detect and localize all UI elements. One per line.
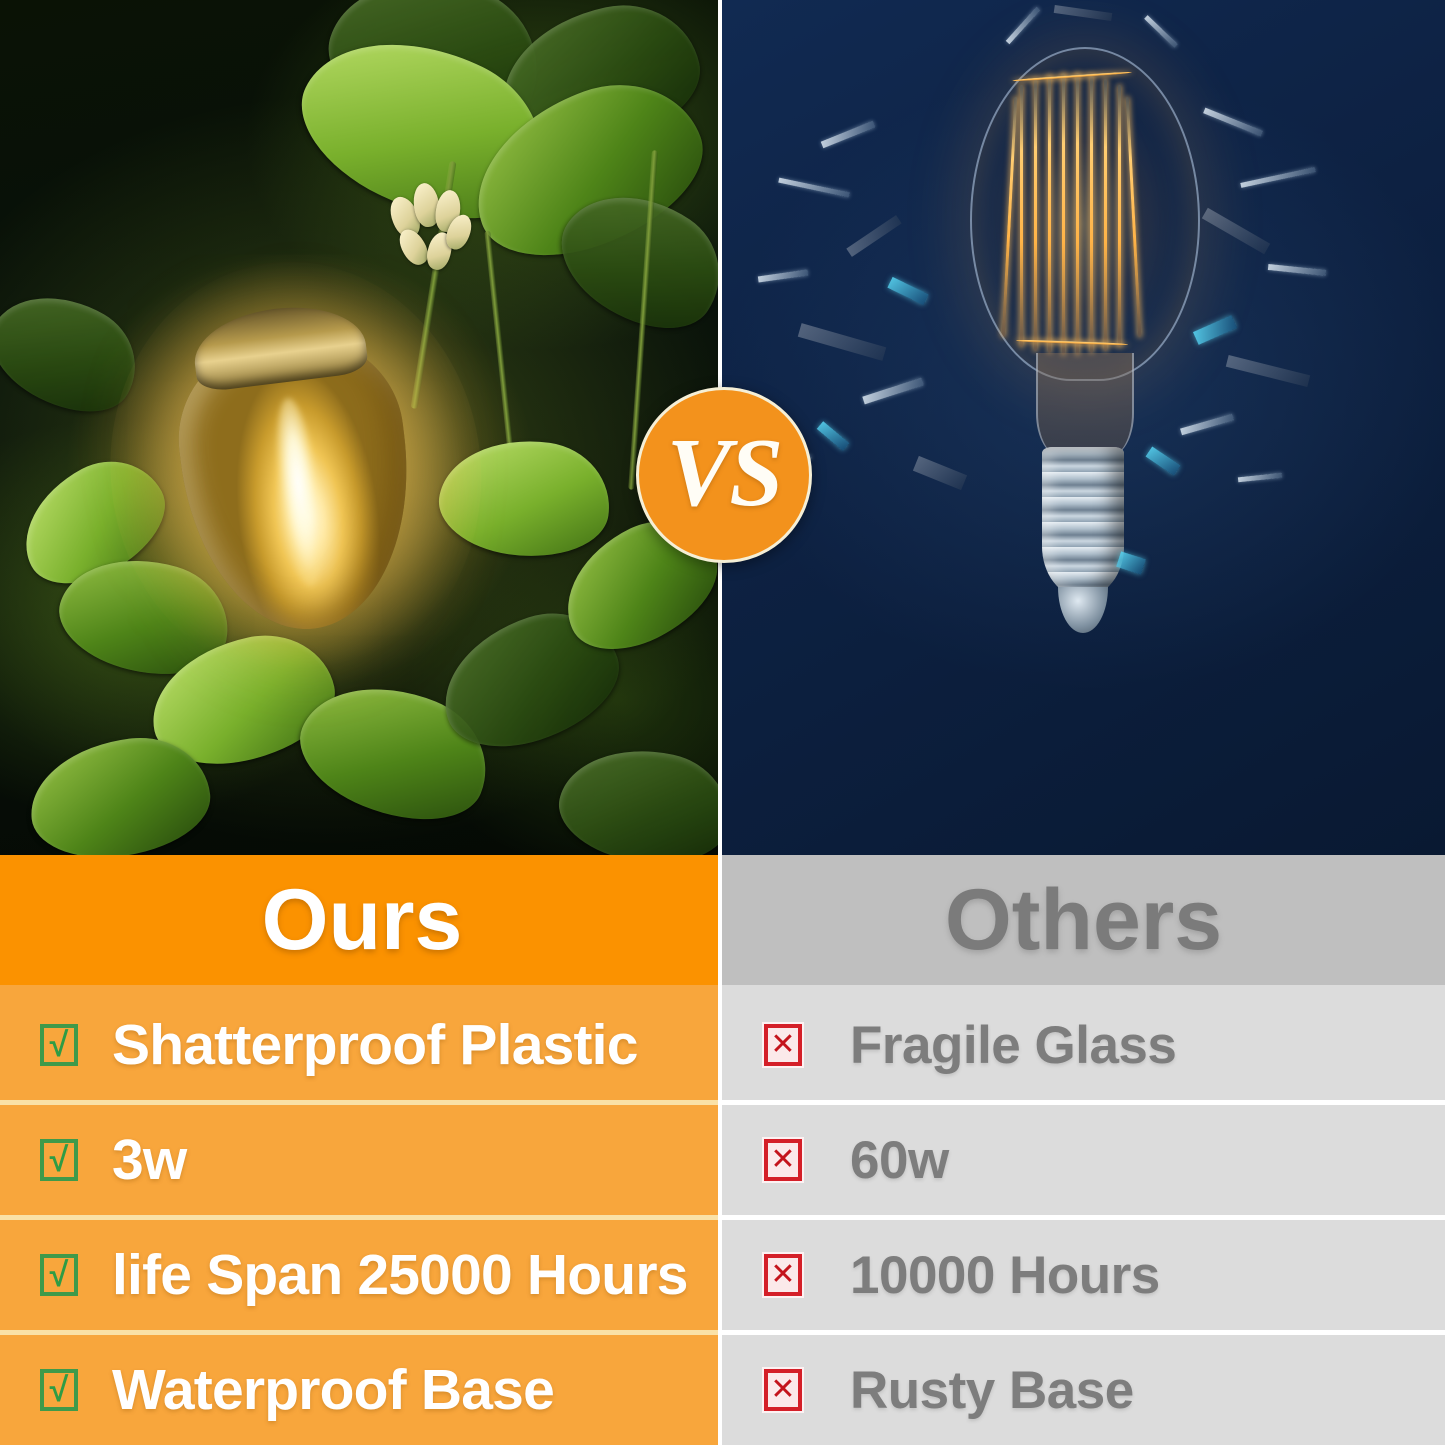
check-icon: √: [40, 1254, 78, 1296]
warm-bulb-graphic: [153, 287, 431, 644]
feature-label-others: Fragile Glass: [850, 1019, 1176, 1072]
feature-label-ours: life Span 25000 Hours: [112, 1247, 688, 1304]
check-icon: √: [40, 1369, 78, 1411]
glass-shard: [1180, 414, 1234, 436]
cross-icon: ✕: [764, 1024, 802, 1066]
cross-icon: ✕: [764, 1369, 802, 1411]
column-header-others-label: Others: [945, 877, 1222, 963]
filament-wire: [1118, 85, 1121, 347]
glass-shard: [1203, 108, 1263, 137]
filament-wire: [1034, 79, 1037, 351]
filament-wire: [1020, 85, 1023, 347]
feature-cell-others: ✕ Fragile Glass: [722, 985, 1445, 1100]
glass-shard: [1193, 315, 1237, 345]
table-row: √ Shatterproof Plastic ✕ Fragile Glass: [0, 985, 1445, 1100]
filament-wire: [1076, 73, 1079, 355]
check-icon: √: [40, 1139, 78, 1181]
feature-comparison-table: √ Shatterproof Plastic ✕ Fragile Glass √…: [0, 985, 1445, 1445]
filament-wire: [1048, 75, 1051, 353]
bulb-neck: [1036, 353, 1134, 457]
feature-label-ours: 3w: [112, 1132, 186, 1189]
feature-label-ours: Shatterproof Plastic: [112, 1017, 638, 1074]
feature-cell-ours: √ life Span 25000 Hours: [0, 1215, 718, 1330]
glass-shard: [1116, 551, 1146, 574]
cross-icon: ✕: [764, 1139, 802, 1181]
feature-label-others: 10000 Hours: [850, 1249, 1160, 1302]
column-header-ours-label: Ours: [262, 877, 463, 963]
vs-label: VS: [667, 424, 782, 521]
feature-label-others: Rusty Base: [850, 1364, 1134, 1417]
feature-cell-others: ✕ 60w: [722, 1100, 1445, 1215]
column-header-others: Others: [722, 855, 1445, 985]
glass-shard: [1146, 447, 1181, 476]
column-headers: Ours Others: [0, 855, 1445, 985]
column-header-ours: Ours: [0, 855, 718, 985]
bulb-screw-base: [1042, 447, 1124, 597]
cross-icon: ✕: [764, 1254, 802, 1296]
comparison-infographic: VS Ours Others √ Shatterproof Plastic ✕ …: [0, 0, 1445, 1445]
feature-cell-ours: √ Shatterproof Plastic: [0, 985, 718, 1100]
feature-label-ours: Waterproof Base: [112, 1362, 554, 1419]
filament-wire: [1104, 79, 1107, 351]
feature-cell-others: ✕ Rusty Base: [722, 1330, 1445, 1445]
feature-label-others: 60w: [850, 1134, 949, 1187]
table-row: √ 3w ✕ 60w: [0, 1100, 1445, 1215]
edison-bulb-graphic: [908, 35, 1258, 725]
feature-cell-ours: √ 3w: [0, 1100, 718, 1215]
bulb-contact-tip: [1058, 587, 1108, 633]
shattering-glass-bulb-photo: [718, 0, 1445, 855]
photo-strip: VS: [0, 0, 1445, 855]
feature-cell-ours: √ Waterproof Base: [0, 1330, 718, 1445]
feature-cell-others: ✕ 10000 Hours: [722, 1215, 1445, 1330]
check-icon: √: [40, 1024, 78, 1066]
warm-bulb-in-foliage-photo: [0, 0, 718, 855]
filament-wire: [1090, 75, 1093, 353]
glass-shard: [913, 456, 967, 490]
vs-badge: VS: [636, 387, 812, 563]
table-row: √ Waterproof Base ✕ Rusty Base: [0, 1330, 1445, 1445]
table-row: √ life Span 25000 Hours ✕ 10000 Hours: [0, 1215, 1445, 1330]
filament-wire: [1062, 73, 1065, 355]
